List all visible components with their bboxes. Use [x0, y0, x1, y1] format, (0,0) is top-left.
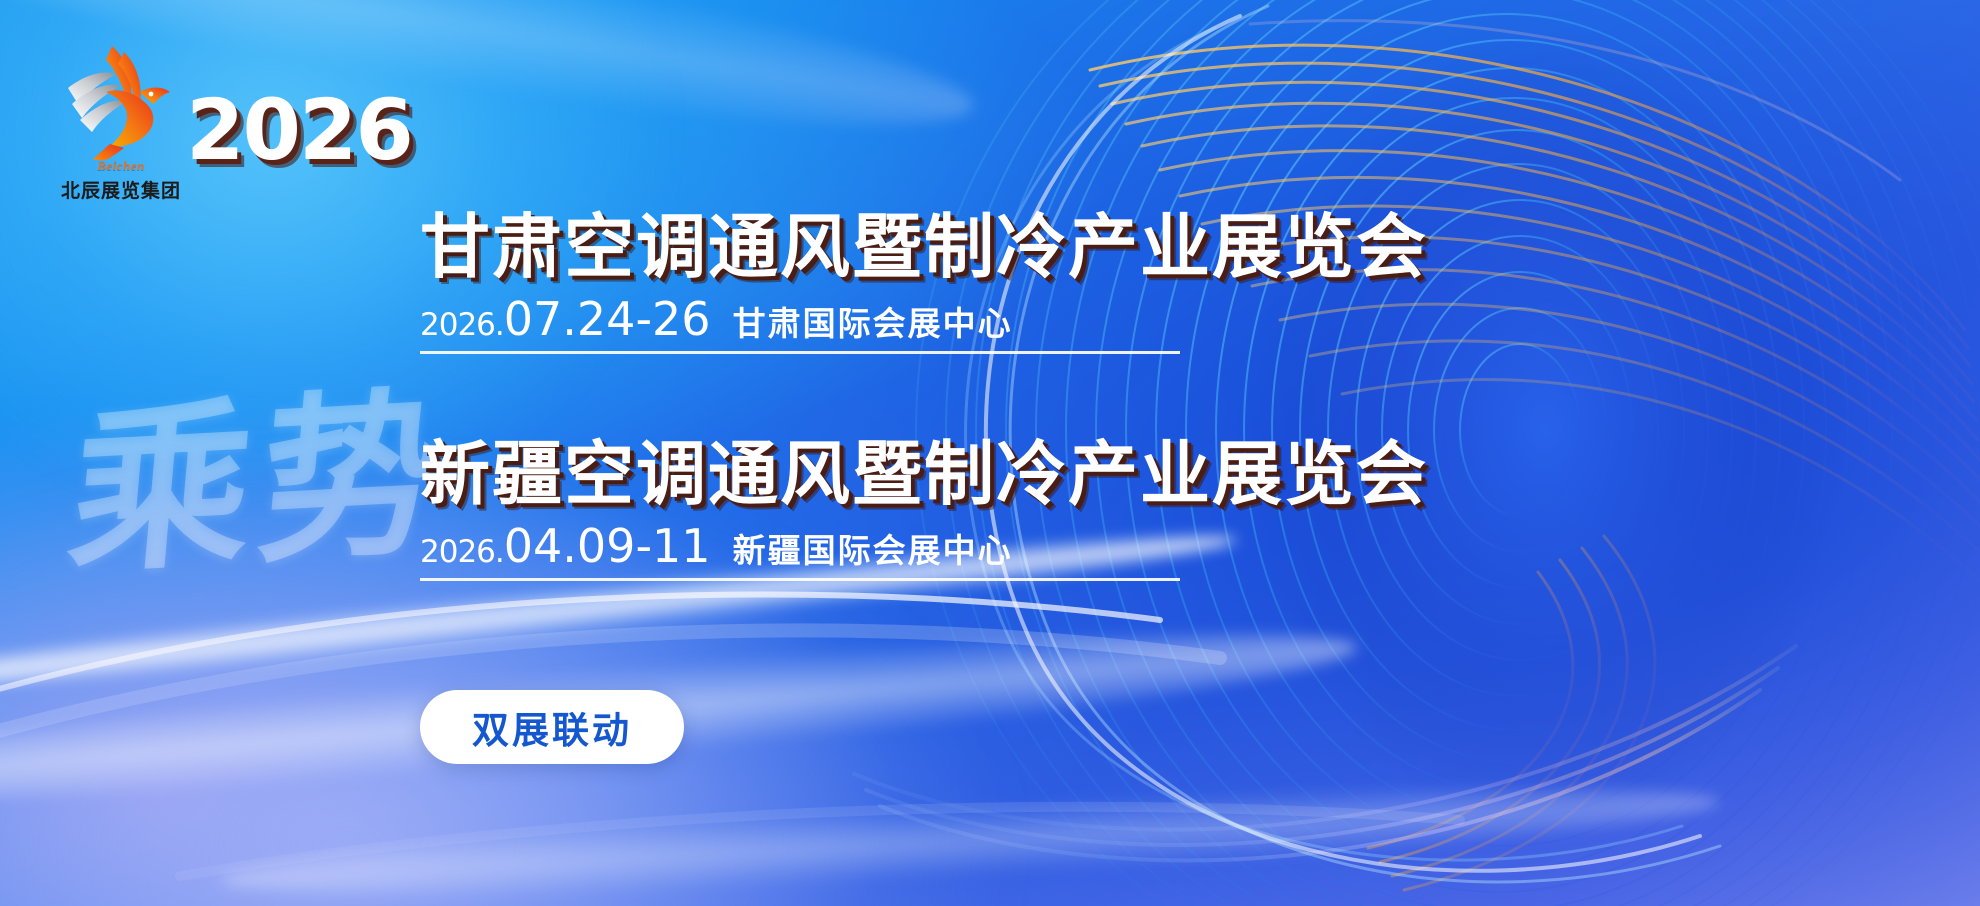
dual-expo-badge[interactable]: 双展联动	[420, 690, 684, 764]
calligraphy-watermark: 乘势	[63, 386, 457, 585]
banner-content: 乘势	[0, 0, 1980, 906]
organiser-logo: Beichen 北辰展览集团	[52, 30, 202, 215]
phoenix-bird-icon	[52, 30, 182, 160]
event-date-2: 2026.04.09-11	[420, 523, 711, 569]
event-meta-1: 2026.07.24-26 甘肃国际会展中心	[420, 296, 1180, 354]
event-date-year-2: 2026.	[420, 534, 504, 570]
event-block-1: 甘肃空调通风暨制冷产业展览会 2026.07.24-26 甘肃国际会展中心	[420, 210, 1680, 354]
event-title-1: 甘肃空调通风暨制冷产业展览会	[420, 210, 1680, 284]
event-date-range-1: 07.24-26	[504, 292, 711, 346]
event-date-range-2: 04.09-11	[504, 519, 711, 573]
year-badge: 2026	[186, 88, 412, 172]
exhibition-banner: 乘势	[0, 0, 1980, 906]
event-block-2: 新疆空调通风暨制冷产业展览会 2026.04.09-11 新疆国际会展中心	[420, 437, 1680, 581]
event-date-1: 2026.07.24-26	[420, 296, 711, 342]
event-title-2: 新疆空调通风暨制冷产业展览会	[420, 437, 1680, 511]
logo-company-name-cn: 北辰展览集团	[52, 176, 190, 203]
logo-script-name: Beichen	[58, 158, 184, 174]
event-venue-2: 新疆国际会展中心	[733, 534, 1013, 567]
event-date-year-1: 2026.	[420, 307, 504, 343]
event-venue-1: 甘肃国际会展中心	[733, 307, 1013, 340]
event-meta-2: 2026.04.09-11 新疆国际会展中心	[420, 523, 1180, 581]
